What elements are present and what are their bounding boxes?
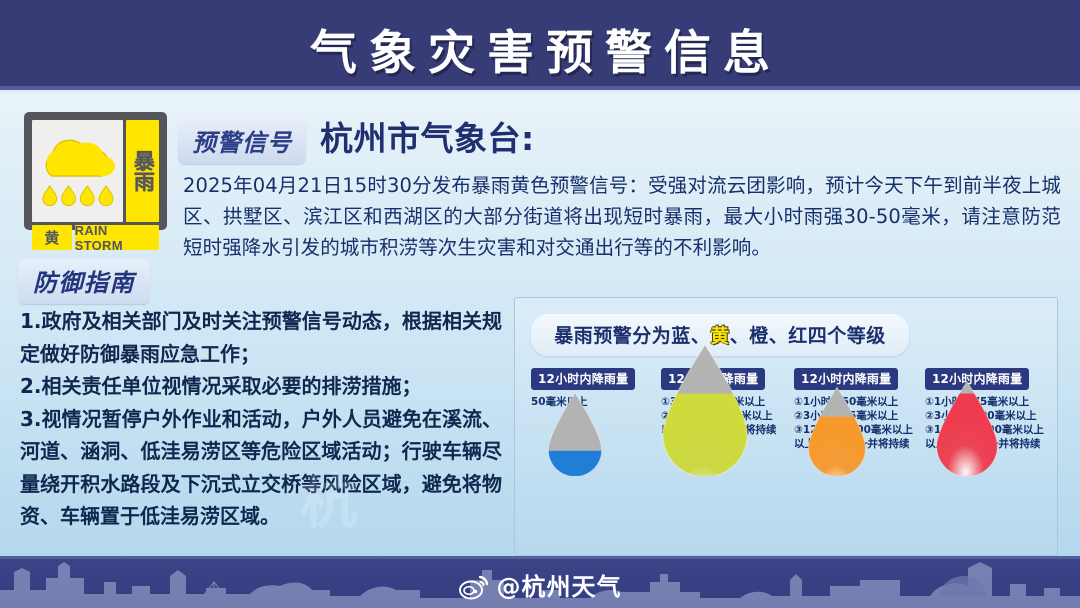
level-cards: 12小时内降雨量50毫米以上12小时内降雨量①3小时：50毫米以上②12小时：7…	[515, 368, 1057, 558]
level-card-line: 50毫米以上	[531, 395, 663, 409]
level-card-yellow: 12小时内降雨量①3小时：50毫米以上②12小时：75毫米以上以上条件达其一并将…	[661, 368, 793, 437]
warning-icon-top: 暴雨	[32, 120, 159, 222]
warning-type-label: 暴雨	[132, 150, 152, 192]
issuing-organization: 杭州市气象台:	[320, 112, 535, 160]
level-card-line: ①1小时：50毫米以上	[794, 395, 926, 409]
level-card-red: 12小时内降雨量①1小时：75毫米以上②3小时：100毫米以上③12小时：200…	[925, 368, 1057, 451]
level-card-line: ③12小时：100毫米以上	[794, 423, 926, 437]
level-card-label: 12小时内降雨量	[661, 368, 765, 390]
level-card-blue: 12小时内降雨量50毫米以上	[531, 368, 663, 409]
legend-title-highlight: 黄	[710, 325, 730, 347]
level-card-lines: ①3小时：50毫米以上②12小时：75毫米以上以上条件达其一并将持续	[661, 395, 793, 437]
warning-text: 2025年04月21日15时30分发布暴雨黄色预警信号：受强对流云团影响，预计今…	[183, 170, 1061, 263]
level-card-line: 以上条件达其一并将持续	[661, 423, 793, 437]
footer-brand: @杭州天气	[0, 567, 1080, 606]
rain-cloud-svg	[32, 120, 123, 222]
level-card-orange: 12小时内降雨量①1小时：50毫米以上②3小时：75毫米以上③12小时：100毫…	[794, 368, 926, 451]
weibo-icon	[459, 574, 489, 606]
page-title: 气象灾害预警信息	[0, 14, 1080, 83]
rain-cloud-icon	[32, 120, 123, 222]
rainstorm-warning-icon: 暴雨 黄 RAIN STORM	[24, 112, 167, 230]
level-card-label: 12小时内降雨量	[925, 368, 1029, 390]
header-divider	[0, 90, 1080, 95]
legend-title-prefix: 暴雨预警分为蓝、	[554, 325, 710, 347]
legend-title: 暴雨预警分为蓝、黄、橙、红四个等级	[531, 314, 909, 356]
level-card-line: 以上条件达其一并将持续	[925, 437, 1057, 451]
level-card-label: 12小时内降雨量	[794, 368, 898, 390]
signal-badge: 预警信号	[178, 118, 306, 164]
level-card-line: ①3小时：50毫米以上	[661, 395, 793, 409]
level-card-line: ①1小时：75毫米以上	[925, 395, 1057, 409]
warning-type-label-box: 暴雨	[126, 120, 159, 222]
warning-level-label: 黄	[32, 225, 72, 250]
level-card-line: ②3小时：100毫米以上	[925, 409, 1057, 423]
level-card-line: ③12小时：200毫米以上	[925, 423, 1057, 437]
warning-english-label: RAIN STORM	[75, 225, 159, 250]
footer-band: @杭州天气	[0, 556, 1080, 608]
level-card-lines: ①1小时：75毫米以上②3小时：100毫米以上③12小时：200毫米以上以上条件…	[925, 395, 1057, 451]
level-card-lines: ①1小时：50毫米以上②3小时：75毫米以上③12小时：100毫米以上以上条件达…	[794, 395, 926, 451]
rainstorm-level-legend-panel: 暴雨预警分为蓝、黄、橙、红四个等级 12小时内降雨量50毫米以上12小时内降雨量…	[514, 297, 1058, 556]
weather-warning-poster: 气象灾害预警信息 暴雨	[0, 0, 1080, 608]
weibo-icon-svg	[459, 574, 489, 600]
level-card-label: 12小时内降雨量	[531, 368, 635, 390]
warning-icon-bottom: 黄 RAIN STORM	[32, 225, 159, 250]
legend-title-suffix: 、橙、红四个等级	[730, 325, 886, 347]
level-card-line: ②12小时：75毫米以上	[661, 409, 793, 423]
defense-guide-badge: 防御指南	[18, 259, 150, 304]
level-card-line: ②3小时：75毫米以上	[794, 409, 926, 423]
level-card-lines: 50毫米以上	[531, 395, 663, 409]
guide-item: 2.相关责任单位视情况采取必要的排涝措施；	[20, 370, 502, 403]
level-card-line: 以上条件达其一并将持续	[794, 437, 926, 451]
footer-brand-text: @杭州天气	[497, 573, 622, 601]
guide-item: 3.视情况暂停户外作业和活动，户外人员避免在溪流、河道、涵洞、低洼易涝区等危险区…	[20, 403, 502, 533]
guide-item: 1.政府及相关部门及时关注预警信号动态，根据相关规定做好防御暴雨应急工作；	[20, 305, 502, 370]
defense-guide-list: 1.政府及相关部门及时关注预警信号动态，根据相关规定做好防御暴雨应急工作； 2.…	[20, 305, 502, 533]
